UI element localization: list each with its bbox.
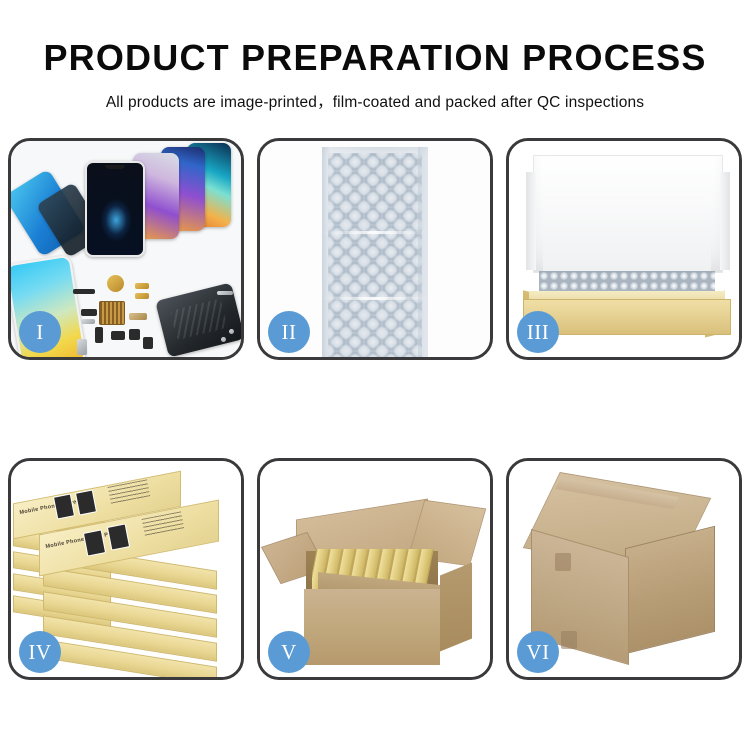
speaker-coil-part — [107, 275, 124, 292]
tape-tab-upper — [555, 553, 571, 571]
bubble-wrap-seam-1 — [322, 231, 428, 234]
sim-card-part — [77, 339, 87, 355]
phone-notch — [105, 165, 125, 169]
page-header: PRODUCT PREPARATION PROCESS All products… — [0, 0, 750, 112]
sim-tray-part — [129, 313, 147, 320]
camera-module-part — [111, 331, 125, 340]
phone-display-black — [85, 161, 145, 257]
tape-tab-lower — [561, 631, 577, 649]
step-badge-3: III — [517, 311, 559, 353]
screw-part-2 — [229, 329, 234, 334]
bubble-wrap-seam-2 — [322, 297, 428, 300]
bubble-wrap-sheet — [322, 147, 428, 357]
button-part — [143, 337, 153, 349]
step-badge-6: VI — [517, 631, 559, 673]
page-subtitle: All products are image-printed，film-coat… — [0, 78, 750, 112]
step-panel-4[interactable]: Mobile Phone Spare Parts Mobile Phone Sp… — [8, 458, 244, 680]
carton-side-right — [440, 563, 472, 652]
bubble-wrap-edge-left — [322, 147, 332, 357]
connector-part-1 — [81, 309, 97, 316]
foam-insert — [543, 193, 711, 271]
carton-body-front — [304, 589, 440, 665]
step-panel-3[interactable]: III — [506, 138, 742, 360]
ic-chip-part — [99, 301, 125, 325]
step-panel-6[interactable]: VI — [506, 458, 742, 680]
process-step-grid: I II III — [8, 138, 742, 680]
step-badge-2: II — [268, 311, 310, 353]
step-panel-2[interactable]: II — [257, 138, 493, 360]
step-badge-4: IV — [19, 631, 61, 673]
screw-part-1 — [221, 337, 226, 342]
step-badge-5: V — [268, 631, 310, 673]
step-badge-1: I — [19, 311, 61, 353]
flex-cable-gold-2 — [135, 293, 149, 299]
flex-ribbon-part — [95, 327, 103, 343]
flex-cable-gold-1 — [135, 283, 149, 289]
vibration-motor-part — [129, 329, 140, 340]
bubble-wrap-edge-right — [418, 147, 428, 357]
bubble-grid-secondary — [328, 153, 422, 357]
bracket-part — [81, 319, 95, 324]
page-title: PRODUCT PREPARATION PROCESS — [0, 0, 750, 78]
tweezers-part — [217, 291, 233, 295]
step-panel-5[interactable]: V — [257, 458, 493, 680]
earpiece-mesh-part — [73, 289, 95, 294]
step-panel-1[interactable]: I — [8, 138, 244, 360]
sealed-carton-side — [625, 526, 715, 654]
